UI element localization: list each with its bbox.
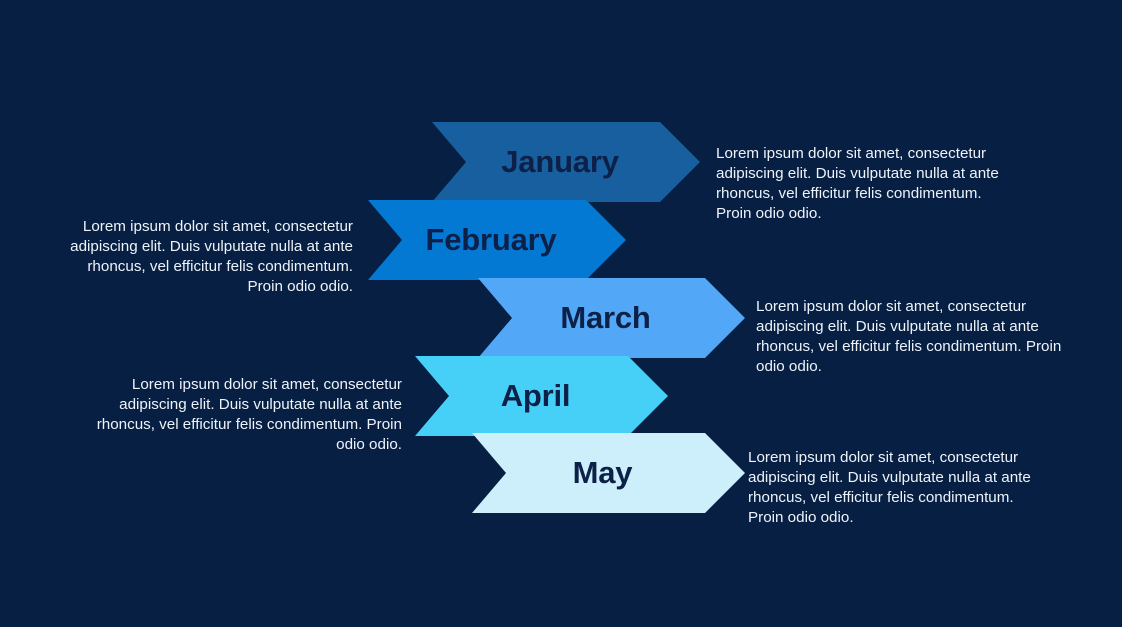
band-label-march: March xyxy=(560,300,650,336)
chevron-timeline-infographic: January Lorem ipsum dolor sit amet, cons… xyxy=(0,0,1122,627)
timeline-row-april: April Lorem ipsum dolor sit amet, consec… xyxy=(0,356,1122,436)
timeline-row-may: May Lorem ipsum dolor sit amet, consecte… xyxy=(0,433,1122,513)
chevron-band-may[interactable]: May xyxy=(472,433,745,513)
band-label-february: February xyxy=(425,222,556,258)
timeline-row-january: January Lorem ipsum dolor sit amet, cons… xyxy=(0,122,1122,202)
band-label-may: May xyxy=(573,455,633,491)
timeline-row-march: March Lorem ipsum dolor sit amet, consec… xyxy=(0,278,1122,358)
chevron-band-february[interactable]: February xyxy=(368,200,626,280)
band-label-january: January xyxy=(501,144,619,180)
chevron-band-april[interactable]: April xyxy=(415,356,668,436)
band-label-april: April xyxy=(501,378,571,414)
chevron-band-january[interactable]: January xyxy=(432,122,700,202)
chevron-band-march[interactable]: March xyxy=(478,278,745,358)
timeline-row-february: February Lorem ipsum dolor sit amet, con… xyxy=(0,200,1122,280)
description-may: Lorem ipsum dolor sit amet, consectetur … xyxy=(748,448,1045,528)
